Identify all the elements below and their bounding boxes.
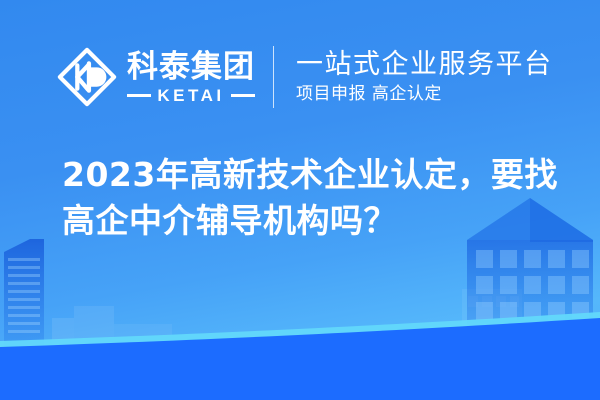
page-title: 2023年高新技术企业认定，要找高企中介辅导机构吗？ [62, 152, 567, 244]
brand-name-cn: 科泰集团 [127, 51, 255, 84]
skyscraper-silhouette [4, 239, 172, 352]
brand-name-en-row: KETAI [127, 87, 255, 104]
tagline-sub: 项目申报 高企认定 [296, 83, 553, 105]
header-divider [273, 46, 274, 108]
low-rise-building [462, 289, 522, 352]
promo-banner: 科泰集团 KETAI 一站式企业服务平台 项目申报 高企认定 2023年高新技术… [0, 0, 600, 400]
brand-name-en: KETAI [157, 87, 224, 104]
brand-header: 科泰集团 KETAI 一站式企业服务平台 项目申报 高企认定 [0, 36, 600, 118]
right-dash-icon [231, 94, 255, 97]
brand-wordmark: 科泰集团 KETAI [127, 51, 255, 104]
ketai-diamond-kt-monogram-icon [56, 46, 118, 108]
left-dash-icon [127, 94, 151, 97]
brand-logo[interactable]: 科泰集团 KETAI [56, 46, 255, 108]
tagline-main: 一站式企业服务平台 [296, 49, 553, 80]
tagline-block: 一站式企业服务平台 项目申报 高企认定 [296, 49, 553, 105]
